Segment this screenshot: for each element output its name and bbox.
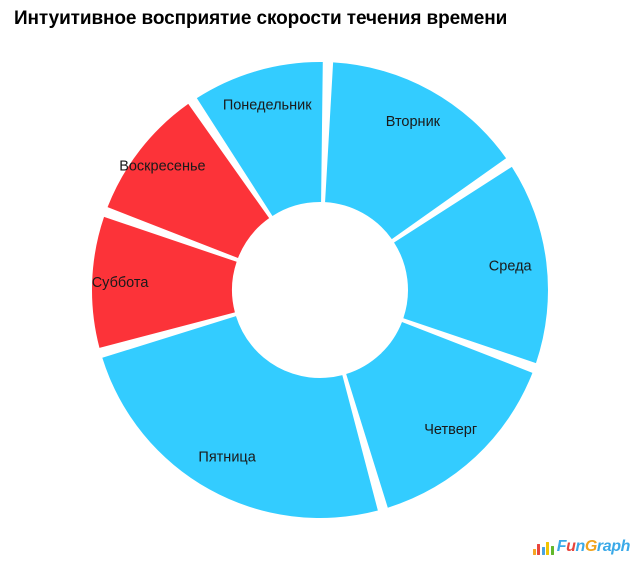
logo-bar-1	[533, 549, 536, 555]
logo-bar-4	[546, 542, 549, 555]
pie-slice-label: Понедельник	[223, 98, 312, 114]
logo-bar-5	[551, 546, 554, 555]
pie-slice-label: Вторник	[386, 114, 441, 130]
pie-slice-label: Суббота	[92, 275, 150, 291]
donut-slices	[92, 62, 548, 518]
logo-letter-h: h	[621, 538, 630, 555]
logo-bar-3	[542, 547, 545, 555]
pie-slice-label: Воскресенье	[119, 159, 205, 175]
bar-chart-icon	[533, 541, 554, 555]
pie-slice-label: Пятница	[198, 449, 256, 465]
chart-container: Интуитивное восприятие скорости течения …	[0, 0, 640, 565]
logo-wordmark: FunGraph	[557, 539, 630, 555]
logo-bar-2	[537, 544, 540, 555]
pie-slice-label: Среда	[489, 258, 533, 274]
logo-letter-a: a	[603, 538, 612, 555]
pie-slice[interactable]	[102, 316, 378, 518]
pie-slice-label: Четверг	[424, 422, 477, 438]
logo-letter-p: p	[611, 538, 620, 555]
logo-letter-f: F	[557, 538, 566, 555]
fungraph-logo: FunGraph	[533, 533, 630, 555]
donut-chart: ВторникСредаЧетвергПятницаСубботаВоскрес…	[0, 0, 640, 565]
logo-letter-g: G	[585, 538, 597, 555]
logo-letter-n: n	[576, 538, 585, 555]
logo-letter-u: u	[566, 538, 575, 555]
